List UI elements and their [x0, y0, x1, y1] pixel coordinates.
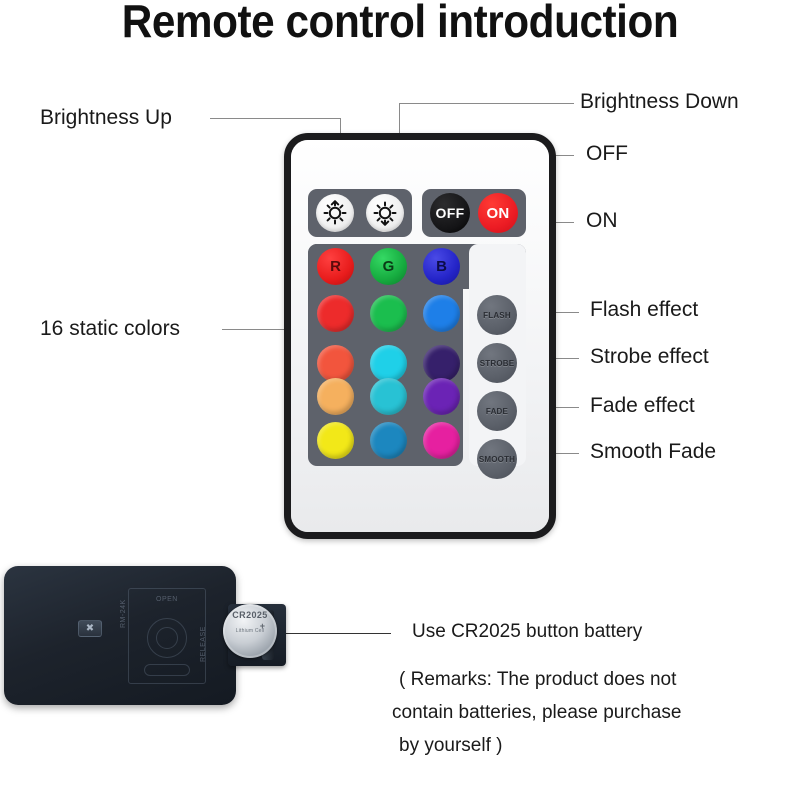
leader-brightness-up	[210, 118, 340, 119]
compartment-open-text: OPEN	[156, 596, 178, 603]
battery-holder-slot	[144, 664, 190, 676]
power-panel: OFF ON	[422, 189, 526, 237]
page-title: Remote control introduction	[32, 0, 768, 48]
strobe-button[interactable]: STROBE	[477, 343, 517, 383]
smooth-button[interactable]: SMOOTH	[477, 439, 517, 479]
color-swatch-row2-col1[interactable]	[317, 345, 354, 382]
color-swatch-row4-col2[interactable]	[370, 422, 407, 459]
label-off: OFF	[586, 142, 628, 166]
remote-face: OFF ON R G B W	[291, 140, 549, 532]
color-swatch-row4-col3[interactable]	[423, 422, 460, 459]
brightness-up-button[interactable]	[316, 194, 354, 232]
note-remark-line-2: contain batteries, please purchase	[392, 702, 681, 724]
label-brightness-down: Brightness Down	[580, 90, 739, 114]
color-swatch-row3-col2[interactable]	[370, 378, 407, 415]
compartment-model-text: RM-24K	[120, 599, 127, 628]
note-remark-line-1: ( Remarks: The product does not	[399, 669, 676, 691]
color-swatch-row2-col2[interactable]	[370, 345, 407, 382]
sun-down-icon	[372, 200, 398, 226]
color-button-b[interactable]: B	[423, 248, 460, 285]
sun-up-icon	[322, 200, 348, 226]
cr2025-coin-battery: CR2025 + Lithium Cell	[223, 604, 277, 658]
coin-battery-label: CR2025	[232, 610, 267, 620]
label-strobe-effect: Strobe effect	[590, 345, 709, 369]
leader-brightness-down	[399, 103, 574, 104]
color-swatch-row2-col3[interactable]	[423, 345, 460, 382]
fade-button[interactable]: FADE	[477, 391, 517, 431]
color-button-r[interactable]: R	[317, 248, 354, 285]
brightness-panel	[308, 189, 412, 237]
note-use-battery: Use CR2025 button battery	[412, 621, 642, 643]
battery-holder-inner	[156, 627, 178, 649]
coin-battery-sublabel: Lithium Cell	[236, 628, 265, 634]
color-swatch-row3-col3[interactable]	[423, 378, 460, 415]
remote-control-infographic: Remote control introduction Brightness U…	[0, 0, 800, 800]
color-swatch-row1-col2[interactable]	[370, 295, 407, 332]
note-remark-line-3: by yourself )	[399, 735, 502, 757]
battery-lock-tab[interactable]: ✖	[78, 620, 102, 637]
label-static-colors: 16 static colors	[40, 317, 180, 341]
brightness-down-button[interactable]	[366, 194, 404, 232]
label-flash-effect: Flash effect	[590, 298, 698, 322]
color-swatch-row3-col1[interactable]	[317, 378, 354, 415]
flash-button[interactable]: FLASH	[477, 295, 517, 335]
color-swatch-row1-col3[interactable]	[423, 295, 460, 332]
release-text: RELEASE	[200, 626, 207, 662]
label-on: ON	[586, 209, 618, 233]
label-fade-effect: Fade effect	[590, 394, 695, 418]
leader-battery	[285, 633, 391, 634]
label-smooth-fade: Smooth Fade	[590, 440, 716, 464]
color-swatch-row1-col1[interactable]	[317, 295, 354, 332]
remote-control-body: OFF ON R G B W	[284, 133, 556, 539]
label-brightness-up: Brightness Up	[40, 106, 172, 130]
color-button-g[interactable]: G	[370, 248, 407, 285]
on-button[interactable]: ON	[478, 193, 518, 233]
color-swatch-row4-col1[interactable]	[317, 422, 354, 459]
remote-back-cover: OPEN RM-24K RELEASE ✖	[4, 566, 236, 705]
off-button[interactable]: OFF	[430, 193, 470, 233]
